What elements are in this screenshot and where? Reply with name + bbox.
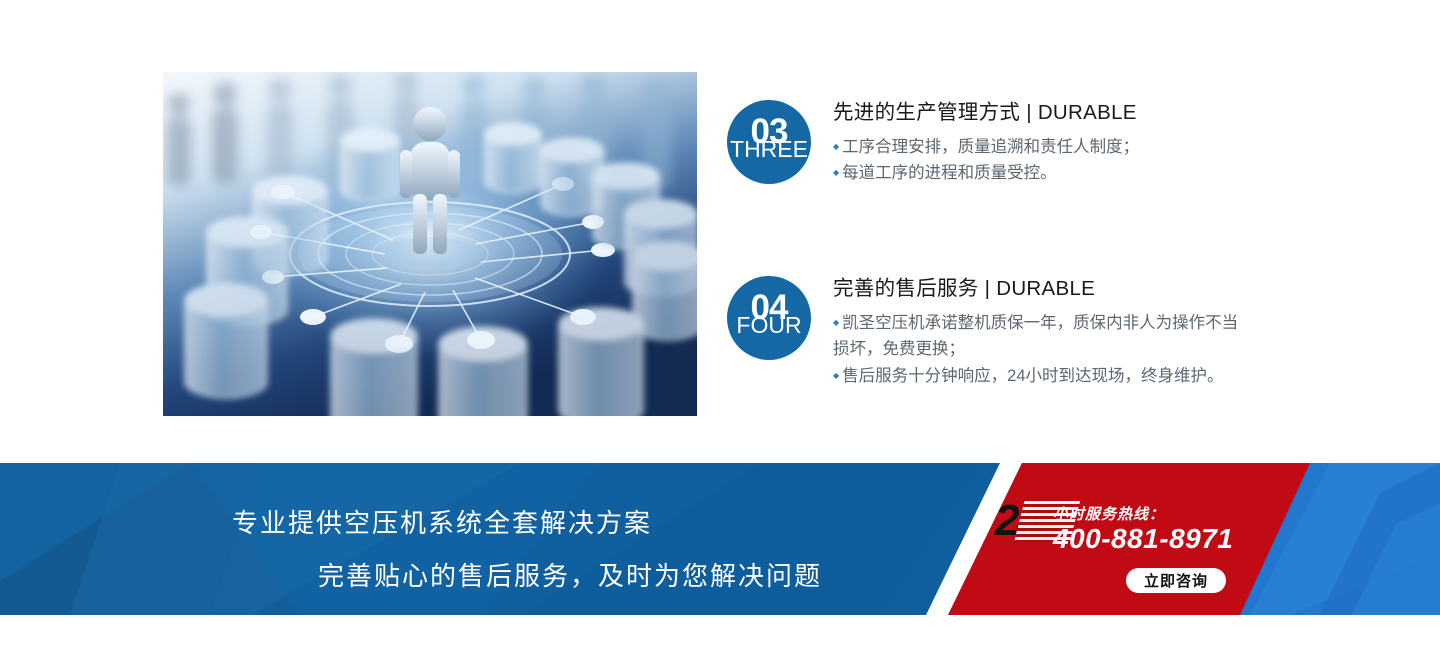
feature-description: 工序合理安排，质量追溯和责任人制度； 每道工序的进程和质量受控。	[833, 134, 1253, 187]
hotline-block: 24 小时服务热线： 400-881-8971 立即咨询	[995, 463, 1295, 615]
feature-title: 完善的售后服务 | DURABLE	[833, 276, 1253, 302]
feature-bullet: 售后服务十分钟响应，24小时到达现场，终身维护。	[833, 363, 1253, 390]
feature-badge-04: 04 FOUR	[727, 276, 811, 360]
feature-title: 先进的生产管理方式 | DURABLE	[833, 100, 1253, 126]
feature-description: 凯圣空压机承诺整机质保一年，质保内非人为操作不当损坏，免费更换； 售后服务十分钟…	[833, 310, 1253, 390]
feature-bullet: 每道工序的进程和质量受控。	[833, 160, 1253, 187]
feature-badge-03: 03 THREE	[727, 100, 811, 184]
feature-bullet: 工序合理安排，质量追溯和责任人制度；	[833, 134, 1253, 161]
network-people-image	[163, 72, 697, 416]
badge-word: FOUR	[727, 314, 811, 337]
hotline-label: 小时服务热线：	[1053, 503, 1165, 524]
badge-word: THREE	[727, 138, 811, 161]
features-section: 03 THREE 先进的生产管理方式 | DURABLE 工序合理安排，质量追溯…	[0, 0, 1440, 463]
feature-block-03: 03 THREE 先进的生产管理方式 | DURABLE 工序合理安排，质量追溯…	[727, 100, 1253, 187]
feature-block-04: 04 FOUR 完善的售后服务 | DURABLE 凯圣空压机承诺整机质保一年，…	[727, 276, 1253, 390]
feature-text-04: 完善的售后服务 | DURABLE 凯圣空压机承诺整机质保一年，质保内非人为操作…	[833, 276, 1253, 390]
feature-bullet: 凯圣空压机承诺整机质保一年，质保内非人为操作不当损坏，免费更换；	[833, 310, 1253, 363]
hotline-number: 400-881-8971	[1053, 523, 1233, 555]
feature-text-03: 先进的生产管理方式 | DURABLE 工序合理安排，质量追溯和责任人制度； 每…	[833, 100, 1253, 187]
consult-now-button[interactable]: 立即咨询	[1126, 568, 1226, 593]
